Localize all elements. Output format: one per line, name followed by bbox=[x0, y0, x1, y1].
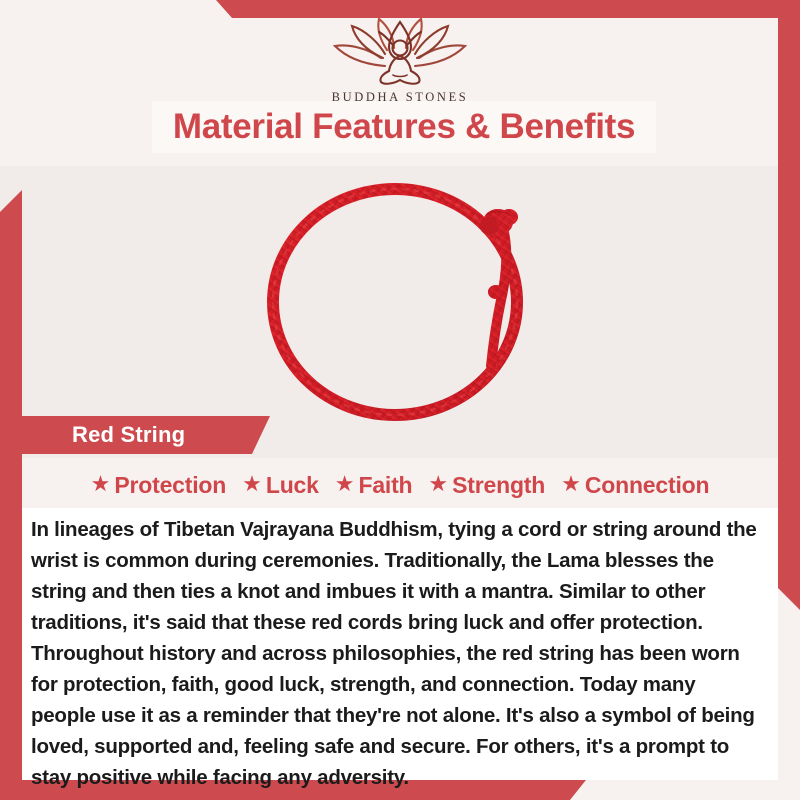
benefit-item: ★ Luck bbox=[235, 472, 326, 499]
benefit-item: ★ Connection bbox=[554, 472, 716, 499]
star-icon: ★ bbox=[428, 473, 448, 495]
material-features-infographic: BUDDHA STONES Material Features & Benefi… bbox=[0, 0, 800, 800]
star-icon: ★ bbox=[242, 473, 262, 495]
star-icon: ★ bbox=[561, 473, 581, 495]
star-icon: ★ bbox=[335, 473, 355, 495]
page-title: Material Features & Benefits bbox=[152, 101, 656, 153]
product-label-text: Red String bbox=[72, 416, 185, 454]
benefit-label: Luck bbox=[266, 472, 319, 499]
benefit-label: Strength bbox=[452, 472, 545, 499]
benefit-item: ★ Protection bbox=[84, 472, 233, 499]
star-icon: ★ bbox=[91, 473, 111, 495]
benefit-item: ★ Faith bbox=[328, 472, 420, 499]
benefits-list: ★ Protection ★ Luck ★ Faith ★ Strength ★… bbox=[22, 466, 778, 504]
benefit-label: Faith bbox=[358, 472, 412, 499]
benefit-label: Connection bbox=[585, 472, 710, 499]
red-string-bracelet-image bbox=[255, 174, 545, 424]
product-image-area bbox=[0, 166, 800, 458]
lotus-meditation-icon bbox=[325, 16, 475, 88]
benefit-item: ★ Strength bbox=[421, 472, 552, 499]
benefit-label: Protection bbox=[114, 472, 226, 499]
description-text: In lineages of Tibetan Vajrayana Buddhis… bbox=[31, 514, 762, 793]
brand-logo: BUDDHA STONES bbox=[0, 16, 800, 105]
description-panel: In lineages of Tibetan Vajrayana Buddhis… bbox=[22, 508, 778, 780]
